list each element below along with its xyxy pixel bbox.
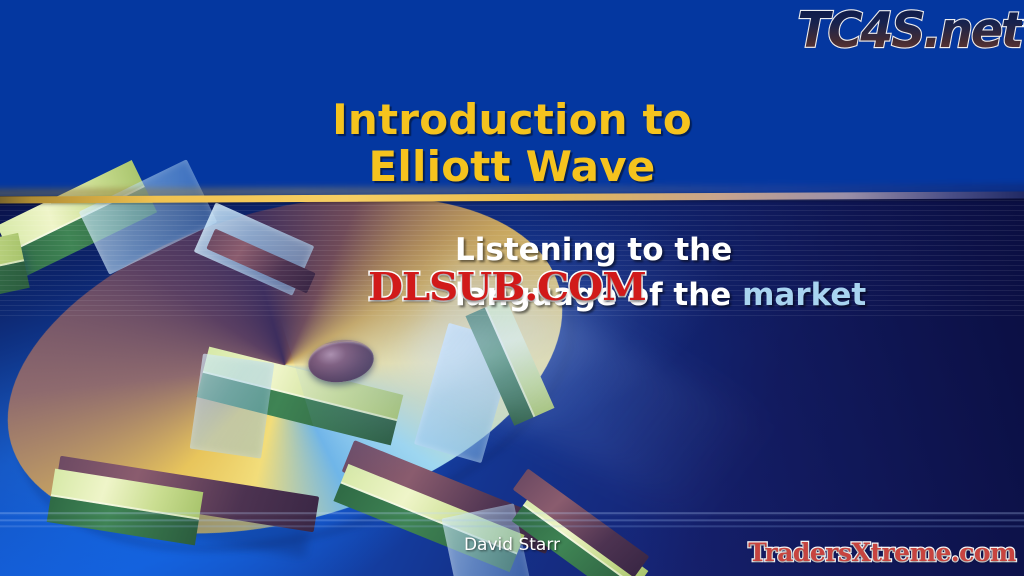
presentation-slide: Introduction to Elliott Wave Listening t… (0, 0, 1024, 576)
slide-title: Introduction to Elliott Wave (0, 96, 1024, 190)
subtitle-highlight: market (742, 277, 866, 313)
title-line-2: Elliott Wave (0, 143, 1024, 190)
tc4s-watermark: TC4S.net (798, 2, 1022, 59)
title-line-1: Introduction to (332, 95, 692, 144)
tradersxtreme-watermark: TradersXtreme.com (748, 538, 1016, 567)
dlsub-watermark: DLSUB.COM (368, 264, 646, 309)
